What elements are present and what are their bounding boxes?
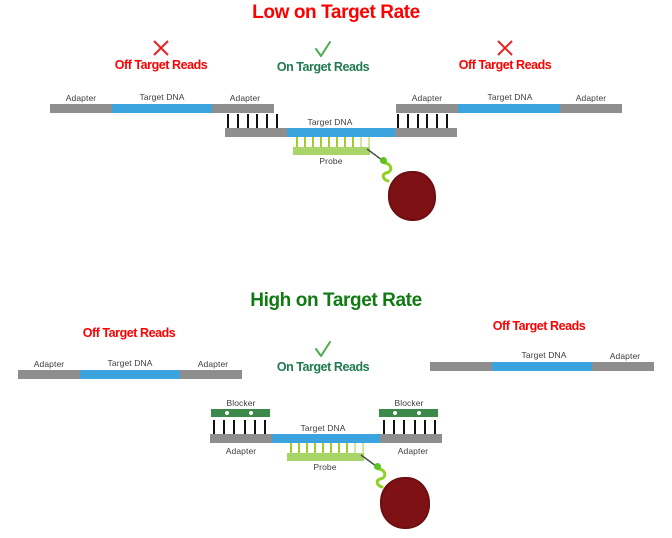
check-icon (258, 340, 388, 360)
label-probe: Probe (296, 156, 366, 166)
label-target-dna-center: Target DNA (288, 117, 372, 127)
blocker-left (211, 409, 270, 417)
segment-target-dna (287, 128, 395, 137)
dna-strand-bottom-center (210, 434, 442, 443)
check-icon (258, 40, 388, 60)
segment-adapter-right (212, 104, 274, 113)
blocker-dot (225, 411, 229, 415)
annotation-label: On Target Reads (258, 360, 388, 374)
segment-adapter-right (380, 434, 442, 443)
segment-target-dna (458, 104, 560, 113)
dna-strand-top-center (225, 128, 457, 137)
label-target-dna: Target DNA (494, 350, 594, 360)
probe-teeth (290, 443, 364, 453)
label-target-dna: Target DNA (460, 92, 560, 102)
label-adapter-left: Adapter (16, 359, 82, 369)
annotation-high-left-off-target: Off Target Reads (64, 326, 194, 340)
probe-teeth (296, 137, 370, 147)
page-title-high: High on Target Rate (0, 290, 672, 312)
fluorophore-bead (380, 157, 387, 164)
blocker-right (379, 409, 438, 417)
label-target-dna: Target DNA (112, 92, 212, 102)
annotation-label: Off Target Reads (96, 58, 226, 72)
label-target-dna: Target DNA (80, 358, 180, 368)
hybridization-ticks-right (397, 114, 448, 128)
segment-adapter-left (18, 370, 80, 379)
label-blocker-right: Blocker (376, 398, 442, 408)
segment-adapter-left (50, 104, 112, 113)
cross-icon (440, 38, 570, 58)
hybridization-ticks-right (383, 420, 436, 435)
quencher-blob (388, 171, 436, 221)
segment-adapter-left (225, 128, 287, 137)
segment-target-dna (80, 370, 180, 379)
cross-icon (96, 38, 226, 58)
label-adapter-left: Adapter (48, 93, 114, 103)
dna-strand-bottom-right (430, 362, 654, 371)
segment-adapter-left (210, 434, 272, 443)
segment-target-dna (112, 104, 212, 113)
label-blocker-left: Blocker (208, 398, 274, 408)
segment-adapter-left (396, 104, 458, 113)
annotation-label: On Target Reads (258, 60, 388, 74)
annotation-label: Off Target Reads (440, 58, 570, 72)
annotation-label: Off Target Reads (64, 326, 194, 340)
annotation-low-center-on-target: On Target Reads (258, 40, 388, 74)
label-adapter-right: Adapter (180, 359, 246, 369)
label-adapter-right: Adapter (558, 93, 624, 103)
annotation-high-right-off-target: Off Target Reads (474, 319, 604, 333)
label-adapter-left: Adapter (394, 93, 460, 103)
annotation-high-center-on-target: On Target Reads (258, 340, 388, 374)
segment-adapter-right (592, 362, 654, 371)
blocker-dot (393, 411, 397, 415)
dna-strand-bottom-left (18, 370, 242, 379)
blocker-dot (249, 411, 253, 415)
annotation-low-left-off-target: Off Target Reads (96, 38, 226, 72)
label-adapter-left-center: Adapter (208, 446, 274, 456)
annotation-label: Off Target Reads (474, 319, 604, 333)
label-probe: Probe (290, 462, 360, 472)
dna-strand-top-right (396, 104, 622, 113)
hybridization-ticks-left (227, 114, 278, 128)
segment-adapter-right (395, 128, 457, 137)
fluorophore-bead (374, 463, 381, 470)
segment-adapter-right (180, 370, 242, 379)
quencher-blob (380, 477, 430, 529)
label-adapter-right: Adapter (212, 93, 278, 103)
segment-target-dna (272, 434, 380, 443)
probe-body (287, 453, 364, 461)
label-target-dna-center: Target DNA (278, 423, 368, 433)
segment-target-dna (492, 362, 592, 371)
segment-adapter-right (560, 104, 622, 113)
annotation-low-right-off-target: Off Target Reads (440, 38, 570, 72)
hybridization-ticks-left (213, 420, 266, 435)
page-title-low: Low on Target Rate (0, 2, 672, 24)
segment-adapter-left (430, 362, 492, 371)
probe-body (293, 147, 370, 155)
label-adapter-right: Adapter (592, 351, 658, 361)
blocker-dot (417, 411, 421, 415)
figure-canvas: Low on Target Rate Off Target Reads On T… (0, 0, 672, 538)
dna-strand-top-left (50, 104, 274, 113)
